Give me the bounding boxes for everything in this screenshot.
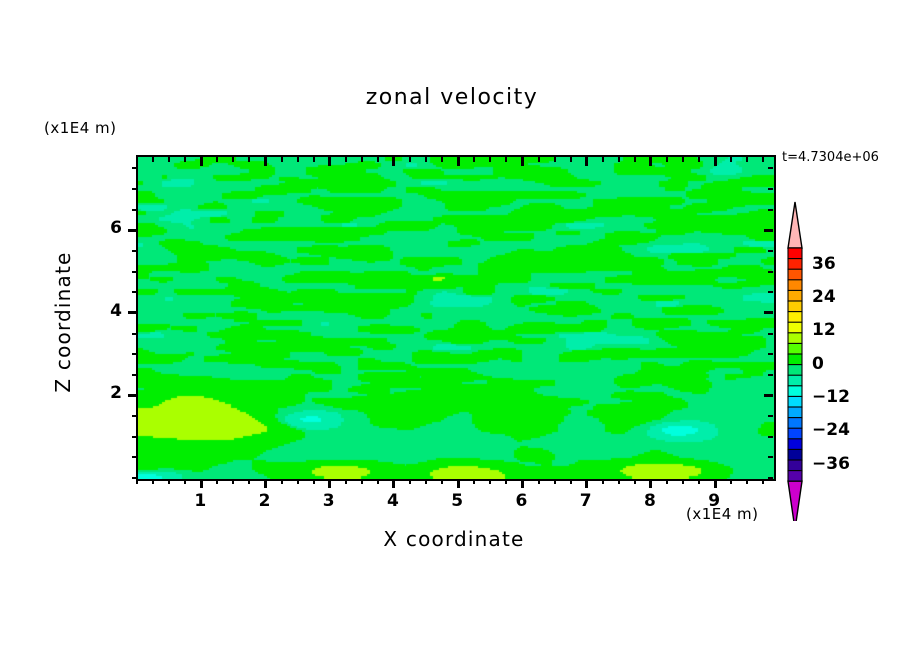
tick-mark bbox=[441, 157, 443, 162]
page-title: zonal velocity bbox=[0, 85, 904, 110]
y-tick-label: 6 bbox=[92, 218, 122, 238]
x-tick-label: 3 bbox=[314, 491, 344, 511]
tick-mark bbox=[132, 250, 137, 252]
colorbar-label: 12 bbox=[812, 320, 836, 340]
contour-plot-figure: zonal velocity (x1E4 m) (x1E4 m) t=4.730… bbox=[0, 0, 904, 654]
tick-mark bbox=[345, 157, 347, 162]
tick-mark bbox=[264, 157, 267, 166]
tick-mark bbox=[768, 333, 773, 335]
colorbar-label: −12 bbox=[812, 387, 850, 407]
tick-mark bbox=[281, 479, 283, 484]
tick-mark bbox=[132, 209, 137, 211]
tick-mark bbox=[762, 479, 764, 484]
tick-mark bbox=[132, 167, 137, 169]
tick-mark bbox=[132, 436, 137, 438]
y-tick-label: 4 bbox=[92, 301, 122, 321]
tick-mark bbox=[473, 479, 475, 484]
tick-mark bbox=[666, 157, 668, 162]
tick-mark bbox=[216, 157, 218, 162]
tick-mark bbox=[152, 479, 154, 484]
tick-mark bbox=[768, 188, 773, 190]
colorbar-label: 36 bbox=[812, 254, 836, 274]
contour-field bbox=[138, 157, 774, 479]
tick-mark bbox=[132, 188, 137, 190]
tick-mark bbox=[538, 479, 540, 484]
tick-mark bbox=[698, 479, 700, 484]
y-axis-title: Z coordinate bbox=[51, 232, 75, 412]
y-axis-unit-label: (x1E4 m) bbox=[44, 119, 117, 137]
tick-mark bbox=[297, 157, 299, 162]
tick-mark bbox=[136, 479, 138, 484]
tick-mark bbox=[505, 479, 507, 484]
tick-mark bbox=[377, 479, 379, 484]
tick-mark bbox=[714, 157, 717, 166]
tick-mark bbox=[768, 353, 773, 355]
tick-mark bbox=[762, 157, 764, 162]
tick-mark bbox=[232, 479, 234, 484]
tick-mark bbox=[698, 157, 700, 162]
tick-mark bbox=[328, 479, 331, 488]
tick-mark bbox=[489, 479, 491, 484]
x-tick-label: 8 bbox=[635, 491, 665, 511]
colorbar-label: 24 bbox=[812, 287, 836, 307]
tick-mark bbox=[297, 479, 299, 484]
tick-mark bbox=[768, 167, 773, 169]
tick-mark bbox=[200, 479, 203, 488]
plot-area bbox=[136, 155, 776, 481]
tick-mark bbox=[682, 157, 684, 162]
tick-mark bbox=[132, 333, 137, 335]
tick-mark bbox=[649, 157, 652, 166]
tick-mark bbox=[618, 157, 620, 162]
tick-mark bbox=[392, 479, 395, 488]
x-tick-label: 6 bbox=[506, 491, 536, 511]
tick-mark bbox=[682, 479, 684, 484]
tick-mark bbox=[128, 311, 137, 314]
tick-mark bbox=[570, 157, 572, 162]
tick-mark bbox=[409, 157, 411, 162]
tick-mark bbox=[768, 456, 773, 458]
tick-mark bbox=[132, 374, 137, 376]
tick-mark bbox=[132, 415, 137, 417]
x-tick-label: 7 bbox=[571, 491, 601, 511]
tick-mark bbox=[184, 479, 186, 484]
tick-mark bbox=[768, 477, 773, 479]
tick-mark bbox=[313, 479, 315, 484]
tick-mark bbox=[746, 157, 748, 162]
tick-mark bbox=[168, 479, 170, 484]
tick-mark bbox=[441, 479, 443, 484]
x-tick-label: 1 bbox=[185, 491, 215, 511]
tick-mark bbox=[184, 157, 186, 162]
x-axis-title: X coordinate bbox=[136, 527, 772, 551]
tick-mark bbox=[585, 479, 588, 488]
tick-mark bbox=[132, 271, 137, 273]
tick-mark bbox=[554, 157, 556, 162]
tick-mark bbox=[361, 157, 363, 162]
tick-mark bbox=[649, 479, 652, 488]
tick-mark bbox=[768, 436, 773, 438]
colorbar-label: −24 bbox=[812, 420, 850, 440]
tick-mark bbox=[489, 157, 491, 162]
tick-mark bbox=[764, 229, 773, 232]
tick-mark bbox=[768, 415, 773, 417]
tick-mark bbox=[768, 250, 773, 252]
tick-mark bbox=[264, 479, 267, 488]
tick-mark bbox=[281, 157, 283, 162]
tick-mark bbox=[361, 479, 363, 484]
tick-mark bbox=[409, 479, 411, 484]
colorbar bbox=[778, 196, 812, 521]
colorbar-swatches bbox=[778, 196, 812, 521]
x-tick-label: 5 bbox=[442, 491, 472, 511]
tick-mark bbox=[216, 479, 218, 484]
tick-mark bbox=[618, 479, 620, 484]
tick-mark bbox=[505, 157, 507, 162]
tick-mark bbox=[377, 157, 379, 162]
tick-mark bbox=[730, 157, 732, 162]
tick-mark bbox=[328, 157, 331, 166]
tick-mark bbox=[425, 157, 427, 162]
tick-mark bbox=[714, 479, 717, 488]
tick-mark bbox=[764, 394, 773, 397]
colorbar-label: −36 bbox=[812, 454, 850, 474]
tick-mark bbox=[425, 479, 427, 484]
tick-mark bbox=[585, 157, 588, 166]
tick-mark bbox=[634, 157, 636, 162]
tick-mark bbox=[666, 479, 668, 484]
tick-mark bbox=[313, 157, 315, 162]
tick-mark bbox=[132, 353, 137, 355]
tick-mark bbox=[128, 394, 137, 397]
tick-mark bbox=[152, 157, 154, 162]
tick-mark bbox=[232, 157, 234, 162]
tick-mark bbox=[132, 291, 137, 293]
x-tick-label: 4 bbox=[378, 491, 408, 511]
tick-mark bbox=[128, 229, 137, 232]
tick-mark bbox=[768, 271, 773, 273]
tick-mark bbox=[746, 479, 748, 484]
tick-mark bbox=[200, 157, 203, 166]
colorbar-label: 0 bbox=[812, 354, 824, 374]
tick-mark bbox=[168, 157, 170, 162]
tick-mark bbox=[132, 477, 137, 479]
tick-mark bbox=[457, 479, 460, 488]
tick-mark bbox=[634, 479, 636, 484]
tick-mark bbox=[248, 157, 250, 162]
tick-mark bbox=[764, 311, 773, 314]
x-tick-label: 2 bbox=[249, 491, 279, 511]
tick-mark bbox=[392, 157, 395, 166]
tick-mark bbox=[602, 479, 604, 484]
tick-mark bbox=[457, 157, 460, 166]
tick-mark bbox=[248, 479, 250, 484]
tick-mark bbox=[570, 479, 572, 484]
tick-mark bbox=[521, 157, 524, 166]
tick-mark bbox=[768, 291, 773, 293]
tick-mark bbox=[768, 209, 773, 211]
tick-mark bbox=[554, 479, 556, 484]
tick-mark bbox=[768, 374, 773, 376]
tick-mark bbox=[730, 479, 732, 484]
tick-mark bbox=[473, 157, 475, 162]
tick-mark bbox=[602, 157, 604, 162]
x-tick-label: 9 bbox=[699, 491, 729, 511]
tick-mark bbox=[538, 157, 540, 162]
tick-mark bbox=[132, 456, 137, 458]
y-tick-label: 2 bbox=[92, 383, 122, 403]
tick-mark bbox=[345, 479, 347, 484]
tick-mark bbox=[136, 157, 138, 162]
tick-mark bbox=[521, 479, 524, 488]
time-annotation: t=4.7304e+06 bbox=[782, 150, 879, 165]
